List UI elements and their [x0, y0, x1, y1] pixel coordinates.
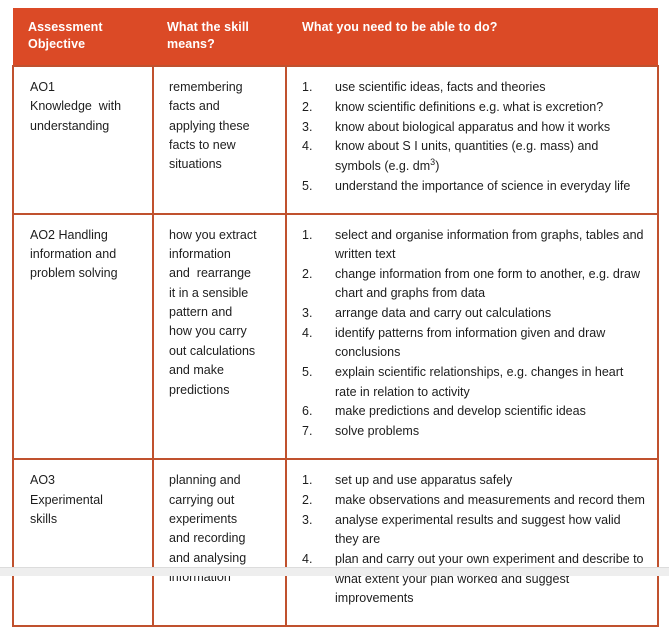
cell-objective-ao1: AO1 Knowledge with understanding	[13, 66, 153, 214]
list-item-text: solve problems	[335, 422, 645, 441]
list-item: 4.plan and carry out your own experiment…	[302, 550, 645, 608]
assessment-objectives-table-wrapper: Assessment Objective What the skill mean…	[12, 8, 657, 627]
list-item: 6.make predictions and develop scientifi…	[302, 402, 645, 421]
list-item-number: 2.	[302, 265, 324, 284]
list-item: 3.know about biological apparatus and ho…	[302, 118, 645, 137]
column-header-what-you-need-to-do: What you need to be able to do?	[286, 8, 658, 66]
list-item-number: 6.	[302, 402, 324, 421]
list-item: 1.select and organise information from g…	[302, 226, 645, 265]
list-item-number: 2.	[302, 491, 324, 510]
cell-tasks-ao1: 1.use scientific ideas, facts and theori…	[286, 66, 658, 214]
list-item-text: analyse experimental results and suggest…	[335, 511, 645, 550]
list-item-text: plan and carry out your own experiment a…	[335, 550, 645, 608]
list-item-text: change information from one form to anot…	[335, 265, 645, 304]
list-item-text: set up and use apparatus safely	[335, 471, 645, 490]
table-row: AO1 Knowledge with understanding remembe…	[13, 66, 658, 214]
column-header-assessment-objective: Assessment Objective	[13, 8, 153, 66]
table-row: AO2 Handling information and problem sol…	[13, 214, 658, 460]
cell-objective-ao3: AO3 Experimental skills	[13, 459, 153, 626]
cell-objective-ao2: AO2 Handling information and problem sol…	[13, 214, 153, 460]
list-item-number: 3.	[302, 511, 324, 530]
list-item: 5.explain scientific relationships, e.g.…	[302, 363, 645, 402]
list-item-number: 4.	[302, 137, 324, 156]
meaning-text: how you extract information and rearrang…	[169, 226, 277, 400]
list-item: 3.analyse experimental results and sugge…	[302, 511, 645, 550]
table-header: Assessment Objective What the skill mean…	[13, 8, 658, 66]
list-item-number: 1.	[302, 471, 324, 490]
list-item-text: identify patterns from information given…	[335, 324, 645, 363]
list-item-text: select and organise information from gra…	[335, 226, 645, 265]
bottom-divider-strip	[0, 567, 669, 576]
list-item-number: 2.	[302, 98, 324, 117]
list-item-text: explain scientific relationships, e.g. c…	[335, 363, 645, 402]
list-item: 5.understand the importance of science i…	[302, 177, 645, 196]
cell-meaning-ao2: how you extract information and rearrang…	[153, 214, 286, 460]
list-item: 2.change information from one form to an…	[302, 265, 645, 304]
list-item-text: know about biological apparatus and how …	[335, 118, 645, 137]
list-item-number: 4.	[302, 324, 324, 343]
column-header-what-the-skill-means: What the skill means?	[153, 8, 286, 66]
meaning-text: remembering facts and applying these fac…	[169, 78, 277, 175]
list-item: 2.make observations and measurements and…	[302, 491, 645, 510]
list-item: 3.arrange data and carry out calculation…	[302, 304, 645, 323]
list-item-number: 1.	[302, 78, 324, 97]
task-list-ao3: 1.set up and use apparatus safely 2.make…	[302, 471, 645, 608]
list-item-number: 3.	[302, 304, 324, 323]
table-header-row: Assessment Objective What the skill mean…	[13, 8, 658, 66]
list-item-text: make predictions and develop scientific …	[335, 402, 645, 421]
list-item: 2.know scientific definitions e.g. what …	[302, 98, 645, 117]
objective-text: AO3 Experimental skills	[30, 471, 144, 529]
list-item-text: know scientific definitions e.g. what is…	[335, 98, 645, 117]
page-root: Assessment Objective What the skill mean…	[0, 0, 669, 576]
list-item-number: 5.	[302, 177, 324, 196]
task-list-ao2: 1.select and organise information from g…	[302, 226, 645, 442]
list-item-number: 7.	[302, 422, 324, 441]
list-item-text: make observations and measurements and r…	[335, 491, 645, 510]
list-item-number: 5.	[302, 363, 324, 382]
list-item: 1.set up and use apparatus safely	[302, 471, 645, 490]
cell-meaning-ao1: remembering facts and applying these fac…	[153, 66, 286, 214]
cell-tasks-ao3: 1.set up and use apparatus safely 2.make…	[286, 459, 658, 626]
list-item-text: arrange data and carry out calculations	[335, 304, 645, 323]
task-list-ao1: 1.use scientific ideas, facts and theori…	[302, 78, 645, 196]
list-item-number: 3.	[302, 118, 324, 137]
list-item-number: 1.	[302, 226, 324, 245]
table-body: AO1 Knowledge with understanding remembe…	[13, 66, 658, 626]
objective-text: AO2 Handling information and problem sol…	[30, 226, 144, 284]
cell-tasks-ao2: 1.select and organise information from g…	[286, 214, 658, 460]
assessment-objectives-table: Assessment Objective What the skill mean…	[12, 8, 659, 627]
list-item-text: know about S I units, quantities (e.g. m…	[335, 137, 645, 176]
list-item: 4.know about S I units, quantities (e.g.…	[302, 137, 645, 176]
list-item: 4.identify patterns from information giv…	[302, 324, 645, 363]
list-item-text: use scientific ideas, facts and theories	[335, 78, 645, 97]
cell-meaning-ao3: planning and carrying out experiments an…	[153, 459, 286, 626]
list-item: 1.use scientific ideas, facts and theori…	[302, 78, 645, 97]
objective-text: AO1 Knowledge with understanding	[30, 78, 144, 136]
list-item: 7.solve problems	[302, 422, 645, 441]
table-row: AO3 Experimental skills planning and car…	[13, 459, 658, 626]
list-item-text: understand the importance of science in …	[335, 177, 645, 196]
